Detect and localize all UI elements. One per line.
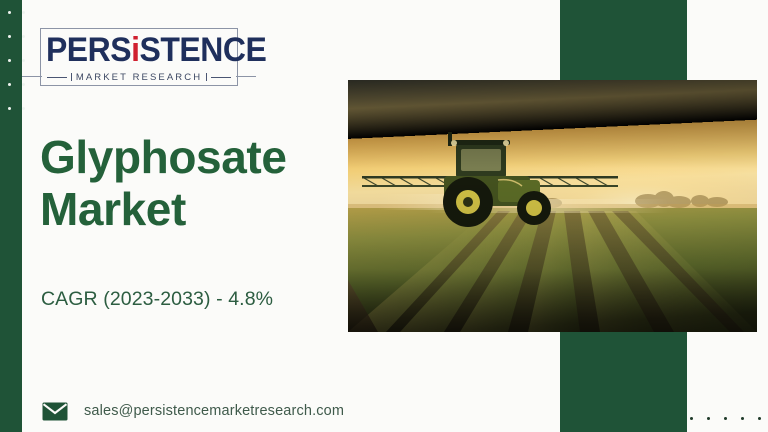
logo-sub-rule-right bbox=[211, 77, 231, 78]
hero-image-illustration bbox=[348, 80, 757, 332]
page-title-line1: Glyphosate bbox=[40, 131, 287, 183]
logo-rule-right bbox=[236, 76, 256, 77]
left-dot bbox=[22, 35, 25, 38]
left-dot bbox=[22, 59, 25, 62]
hero-image bbox=[348, 80, 757, 332]
bottom-right-dot bbox=[741, 417, 744, 420]
page-title-line2: Market bbox=[40, 183, 186, 235]
left-dot-grid bbox=[0, 0, 30, 140]
logo-sub-tick-left bbox=[71, 73, 72, 81]
envelope-icon bbox=[42, 402, 68, 421]
logo-word-part2: STENCE bbox=[140, 31, 267, 69]
page-title: GlyphosateMarket bbox=[40, 132, 340, 236]
logo-word-part1: PERS bbox=[46, 31, 131, 69]
logo-sub-rule-left bbox=[47, 77, 67, 78]
left-dot bbox=[22, 11, 25, 14]
contact-email-row[interactable]: sales@persistencemarketresearch.com bbox=[42, 398, 344, 424]
left-dot bbox=[8, 107, 11, 110]
logo-rule-left bbox=[22, 76, 42, 77]
logo-word-accent: i bbox=[131, 31, 139, 69]
left-dot bbox=[22, 83, 25, 86]
content-column: PERSiSTENCE MARKET RESEARCH GlyphosateMa… bbox=[40, 0, 350, 432]
bottom-right-dot-row bbox=[686, 414, 768, 426]
left-dot bbox=[8, 83, 11, 86]
left-dot bbox=[8, 59, 11, 62]
left-dot bbox=[8, 11, 11, 14]
left-dot bbox=[22, 107, 25, 110]
logo-subtitle: MARKET RESEARCH bbox=[76, 72, 202, 83]
logo-subtitle-row: MARKET RESEARCH bbox=[40, 68, 238, 86]
contact-email-text: sales@persistencemarketresearch.com bbox=[84, 403, 344, 419]
brand-logo[interactable]: PERSiSTENCE MARKET RESEARCH bbox=[40, 28, 238, 100]
bottom-right-dot bbox=[690, 417, 693, 420]
logo-sub-tick-right bbox=[206, 73, 207, 81]
bottom-right-dot bbox=[758, 417, 761, 420]
bottom-right-dot bbox=[707, 417, 710, 420]
left-dot bbox=[8, 35, 11, 38]
cagr-label: CAGR (2023-2033) - 4.8% bbox=[41, 288, 273, 311]
bottom-right-dot bbox=[724, 417, 727, 420]
logo-wordmark: PERSiSTENCE bbox=[46, 30, 232, 70]
